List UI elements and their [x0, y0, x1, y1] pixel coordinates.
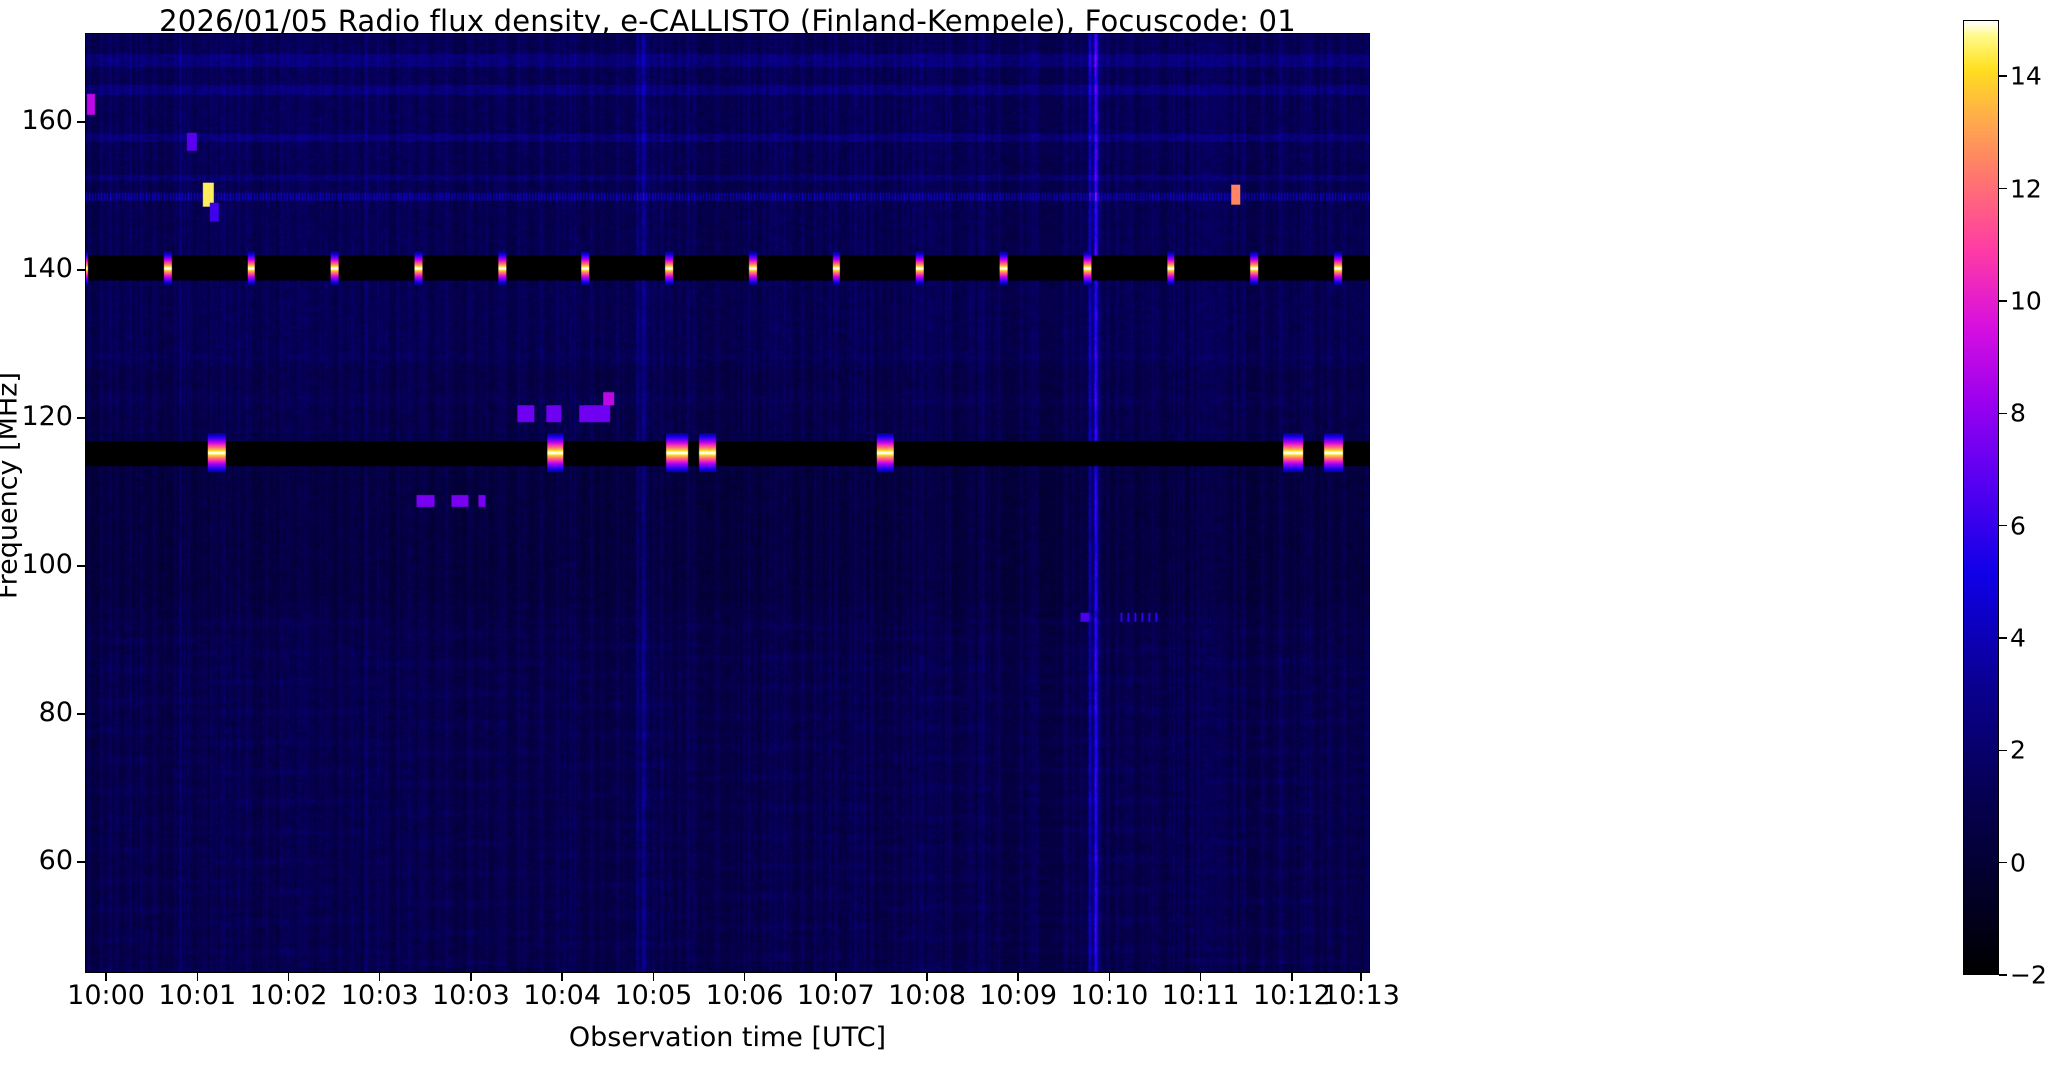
x-tick-mark [105, 973, 106, 981]
colorbar-tick-label: 10 [2010, 286, 2042, 315]
x-tick-mark [744, 973, 745, 981]
y-axis-label: Frequency [MHz] [0, 16, 24, 956]
y-tick-label: 140 [0, 253, 73, 284]
x-tick-mark [379, 973, 380, 981]
x-axis-label: Observation time [UTC] [85, 1022, 1370, 1053]
colorbar-tick-mark [1999, 750, 2007, 751]
colorbar-tick-label: 12 [2010, 174, 2042, 203]
colorbar-tick-mark [1999, 75, 2007, 76]
y-tick-mark [77, 121, 85, 122]
y-tick-mark [77, 861, 85, 862]
x-tick-mark [1109, 973, 1110, 981]
x-tick-label: 10:13 [1281, 980, 1441, 1011]
x-tick-mark [1017, 973, 1018, 981]
colorbar-tick-mark [1999, 188, 2007, 189]
colorbar-tick-mark [1999, 413, 2007, 414]
colorbar-tick-label: 2 [2010, 736, 2026, 765]
y-tick-label: 120 [0, 401, 73, 432]
x-tick-mark [1200, 973, 1201, 981]
x-tick-mark [561, 973, 562, 981]
colorbar-tick-label: 14 [2010, 62, 2042, 91]
colorbar-tick-mark [1999, 637, 2007, 638]
x-tick-mark [926, 973, 927, 981]
colorbar-tick-label: 6 [2010, 511, 2026, 540]
y-tick-label: 100 [0, 549, 73, 580]
y-tick-mark [77, 417, 85, 418]
colorbar-tick-label: 8 [2010, 399, 2026, 428]
x-tick-mark [1360, 973, 1361, 981]
y-tick-label: 60 [0, 845, 73, 876]
x-tick-mark [197, 973, 198, 981]
y-tick-mark [77, 565, 85, 566]
y-tick-mark [77, 269, 85, 270]
colorbar-tick-label: −2 [2010, 961, 2047, 990]
colorbar-tick-mark [1999, 974, 2007, 975]
colorbar-tick-label: 4 [2010, 623, 2026, 652]
colorbar-tick-label: 0 [2010, 848, 2026, 877]
colorbar-tick-mark [1999, 300, 2007, 301]
colorbar-tick-mark [1999, 525, 2007, 526]
y-tick-mark [77, 713, 85, 714]
spectrogram-plot-area[interactable] [85, 33, 1370, 973]
colorbar-gradient [1964, 21, 1998, 974]
x-tick-mark [653, 973, 654, 981]
y-tick-label: 160 [0, 105, 73, 136]
x-tick-mark [470, 973, 471, 981]
colorbar[interactable] [1963, 20, 1999, 975]
y-tick-label: 80 [0, 697, 73, 728]
spectrogram-image [86, 34, 1369, 972]
x-tick-mark [288, 973, 289, 981]
figure-root: 2026/01/05 Radio flux density, e-CALLIST… [0, 0, 2066, 1067]
x-tick-mark [835, 973, 836, 981]
colorbar-tick-mark [1999, 862, 2007, 863]
